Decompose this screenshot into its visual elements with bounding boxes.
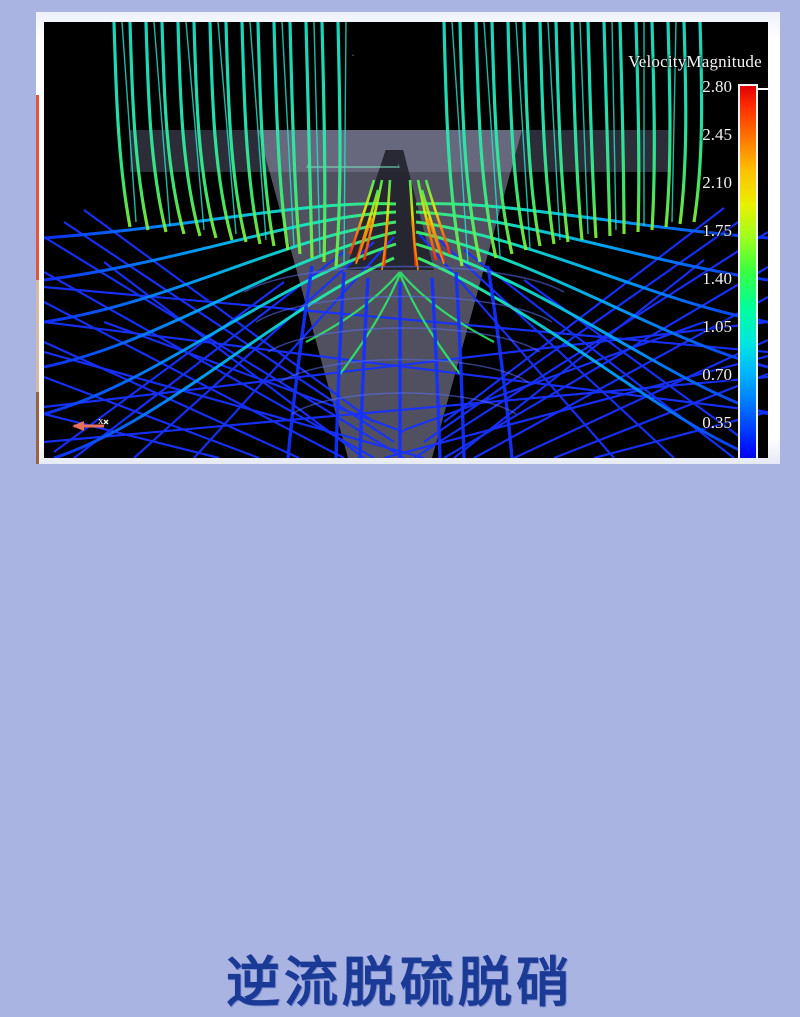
axis-label-x: x bbox=[98, 415, 104, 427]
frame-left-brown-strip bbox=[36, 392, 39, 464]
colorbar-max-tick bbox=[758, 88, 768, 90]
colorbar-tick-2: 2.10 bbox=[658, 174, 732, 191]
colorbar-tick-4: 1.40 bbox=[658, 270, 732, 287]
colorbar-tick-1: 2.45 bbox=[658, 126, 732, 143]
axis-indicator: x bbox=[58, 412, 118, 446]
scene: VelocityMagnitude 2.80 2.45 2.10 1.75 1.… bbox=[44, 22, 768, 458]
render-viewport[interactable]: VelocityMagnitude 2.80 2.45 2.10 1.75 1.… bbox=[44, 22, 768, 458]
colorbar-tick-6: 0.70 bbox=[658, 366, 732, 383]
colorbar-tick-3: 1.75 bbox=[658, 222, 732, 239]
figure-caption: 逆流脱硫脱硝 bbox=[0, 938, 800, 1017]
colorbar: VelocityMagnitude 2.80 2.45 2.10 1.75 1.… bbox=[694, 68, 768, 458]
colorbar-gradient bbox=[738, 84, 758, 458]
colorbar-title: VelocityMagnitude bbox=[570, 52, 768, 72]
colorbar-tick-5: 1.05 bbox=[658, 318, 732, 335]
colorbar-tick-0: 2.80 bbox=[658, 78, 732, 95]
colorbar-tick-7: 0.35 bbox=[658, 414, 732, 431]
figure-page: VelocityMagnitude 2.80 2.45 2.10 1.75 1.… bbox=[0, 0, 800, 542]
caption-bar: 逆流脱硫脱硝 bbox=[0, 464, 800, 542]
frame-left-light-strip bbox=[36, 280, 39, 392]
frame-left-red-strip bbox=[36, 95, 39, 280]
axis-arrow-icon bbox=[58, 412, 118, 446]
colorbar-tick-labels: 2.80 2.45 2.10 1.75 1.40 1.05 0.70 0.35 … bbox=[654, 78, 732, 458]
